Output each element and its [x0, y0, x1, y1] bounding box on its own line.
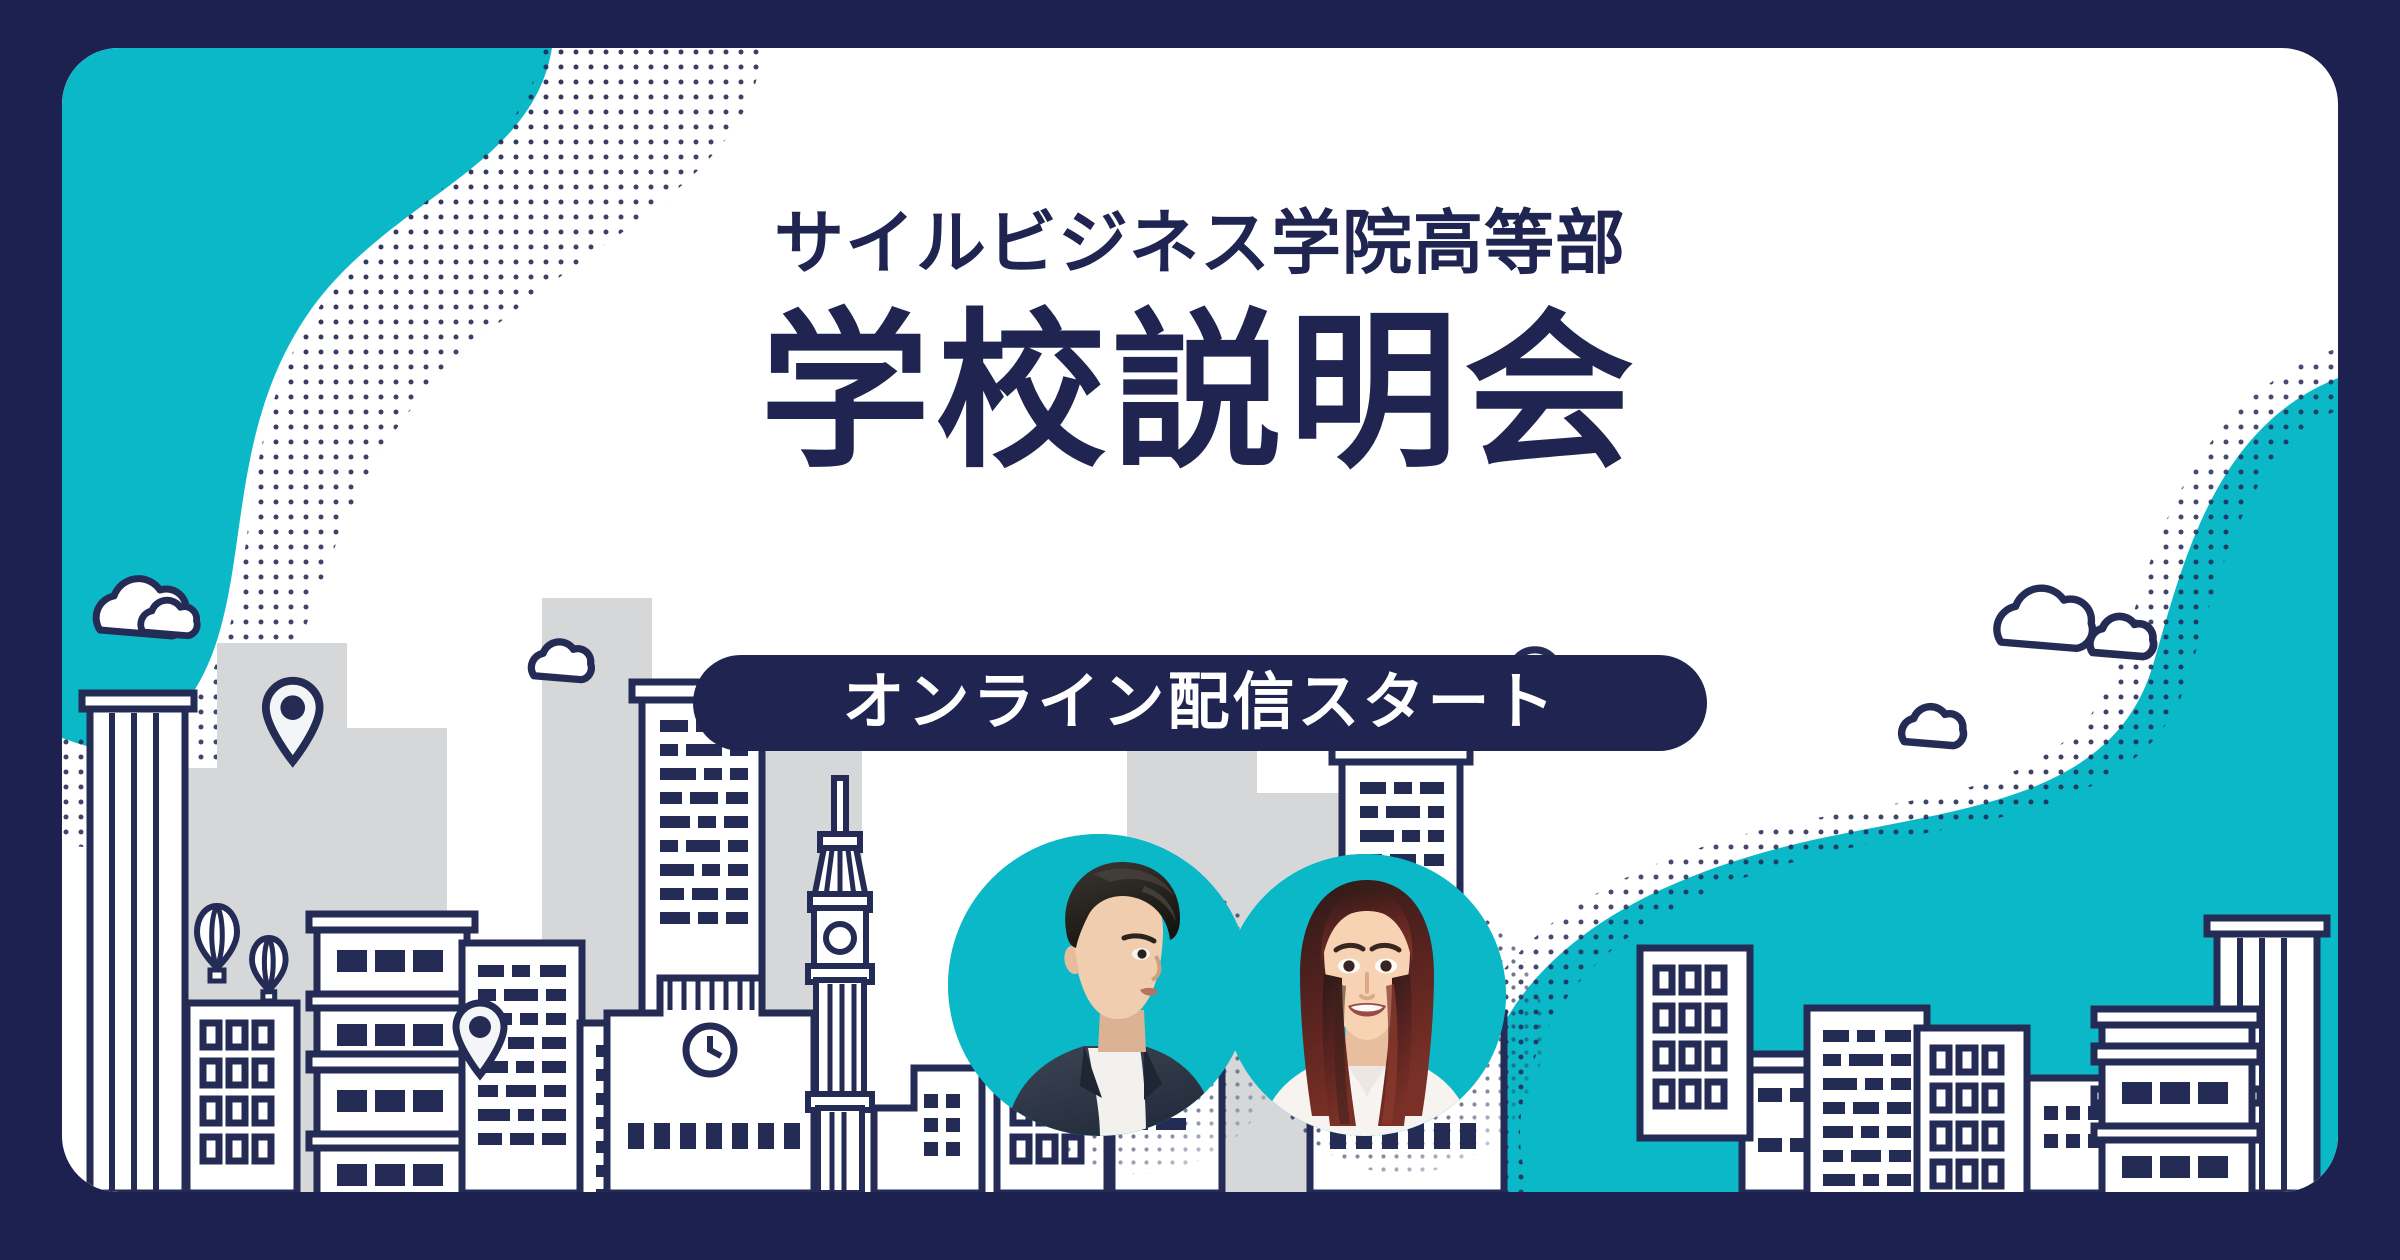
avatar-female-presenter	[1224, 854, 1544, 1174]
status-badge: オンライン配信スタート	[693, 655, 1707, 751]
school-name-subtitle: サイルビジネス学院高等部	[62, 208, 2338, 278]
avatar-photo-male	[948, 834, 1250, 1136]
status-badge-label: オンライン配信スタート	[842, 672, 1557, 734]
banner-card: サイルビジネス学院高等部 学校説明会 オンライン配信スタート	[62, 48, 2338, 1192]
page-title: 学校説明会	[62, 298, 2338, 488]
avatar-photo-female	[1224, 854, 1506, 1136]
banner-canvas: サイルビジネス学院高等部 学校説明会 オンライン配信スタート	[0, 0, 2400, 1260]
